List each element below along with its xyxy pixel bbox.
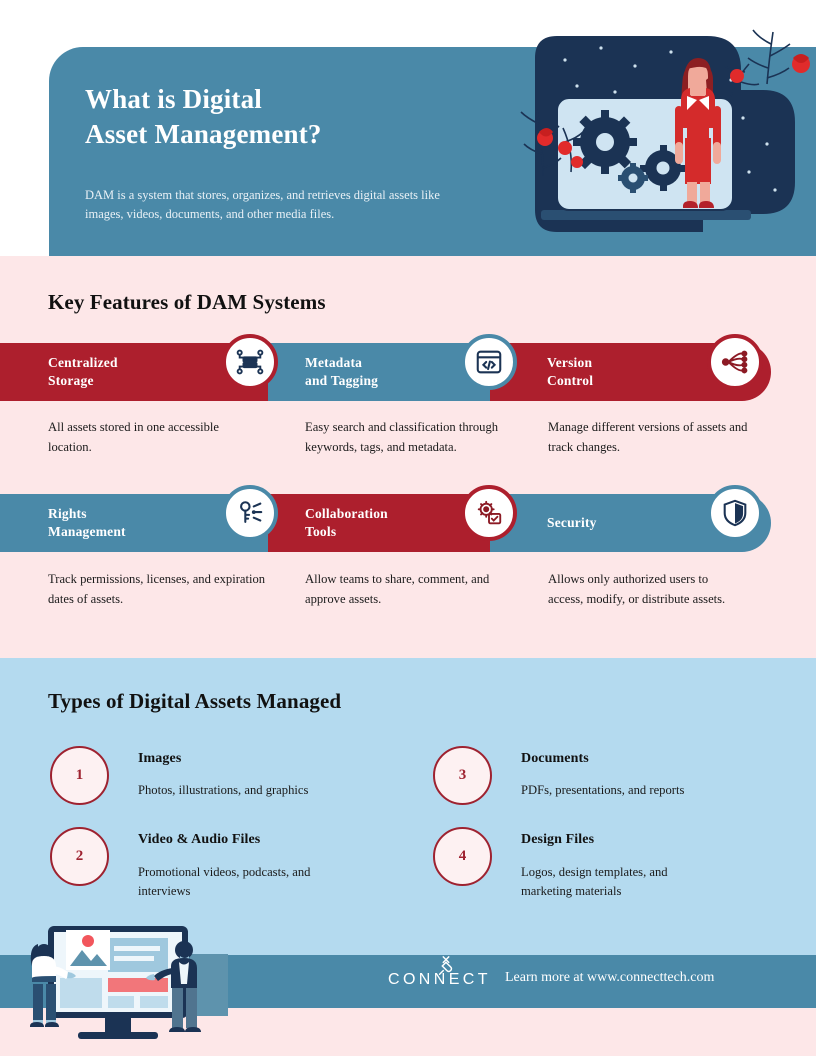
- feature-desc-metadata-tagging: Easy search and classification through k…: [305, 418, 505, 457]
- version-branch-icon[interactable]: [707, 334, 763, 390]
- feature-desc-version-control: Manage different versions of assets and …: [548, 418, 748, 457]
- asset-type-desc-4: Logos, design templates, and marketing m…: [521, 863, 716, 901]
- feature-desc-collaboration-tools: Allow teams to share, comment, and appro…: [305, 570, 505, 609]
- feature-row-1: Centralized Storage Metadata and Tagging…: [0, 343, 771, 401]
- power-plug-icon: [435, 955, 457, 977]
- hero-subtitle: DAM is a system that stores, organizes, …: [85, 186, 475, 224]
- feature-label-rights-management: Rights Management: [48, 505, 126, 541]
- server-network-icon[interactable]: [222, 334, 278, 390]
- woman-laptop-gears-illustration: [505, 20, 816, 256]
- asset-type-title-1: Images: [138, 751, 181, 767]
- feature-desc-rights-management: Track permissions, licenses, and expirat…: [48, 570, 278, 609]
- asset-types-heading: Types of Digital Assets Managed: [48, 689, 341, 714]
- key-features-heading: Key Features of DAM Systems: [48, 290, 326, 315]
- code-window-icon[interactable]: [461, 334, 517, 390]
- feature-label-centralized-storage: Centralized Storage: [48, 354, 118, 390]
- asset-type-number-1: 1: [50, 746, 109, 805]
- page-title: What is Digital Asset Management?: [85, 82, 515, 152]
- asset-type-desc-2: Promotional videos, podcasts, and interv…: [138, 863, 343, 901]
- feature-label-security: Security: [547, 514, 597, 532]
- infographic-canvas: What is Digital Asset Management? DAM is…: [0, 0, 816, 1056]
- asset-type-number-4: 4: [433, 827, 492, 886]
- asset-type-title-2: Video & Audio Files: [138, 832, 260, 848]
- asset-type-title-3: Documents: [521, 751, 589, 767]
- hero-title-line2: Asset Management?: [85, 117, 515, 152]
- feature-desc-security: Allows only authorized users to access, …: [548, 570, 743, 609]
- key-permissions-icon[interactable]: [222, 485, 278, 541]
- feature-row-2: Rights Management Collaboration Tools Se…: [0, 494, 771, 552]
- asset-type-desc-3: PDFs, presentations, and reports: [521, 781, 771, 800]
- feature-label-version-control: Version Control: [547, 354, 593, 390]
- asset-type-title-4: Design Files: [521, 832, 594, 848]
- footer-link[interactable]: Learn more at www.connecttech.com: [505, 970, 714, 986]
- feature-label-metadata-tagging: Metadata and Tagging: [305, 354, 378, 390]
- hero-title-line1: What is Digital: [85, 82, 515, 117]
- feature-desc-centralized-storage: All assets stored in one accessible loca…: [48, 418, 263, 457]
- team-presentation-monitor-illustration: [8, 912, 228, 1056]
- shield-icon[interactable]: [707, 485, 763, 541]
- gear-approve-icon[interactable]: [461, 485, 517, 541]
- asset-type-number-3: 3: [433, 746, 492, 805]
- asset-type-desc-1: Photos, illustrations, and graphics: [138, 781, 388, 800]
- asset-type-number-2: 2: [50, 827, 109, 886]
- feature-label-collaboration-tools: Collaboration Tools: [305, 505, 388, 541]
